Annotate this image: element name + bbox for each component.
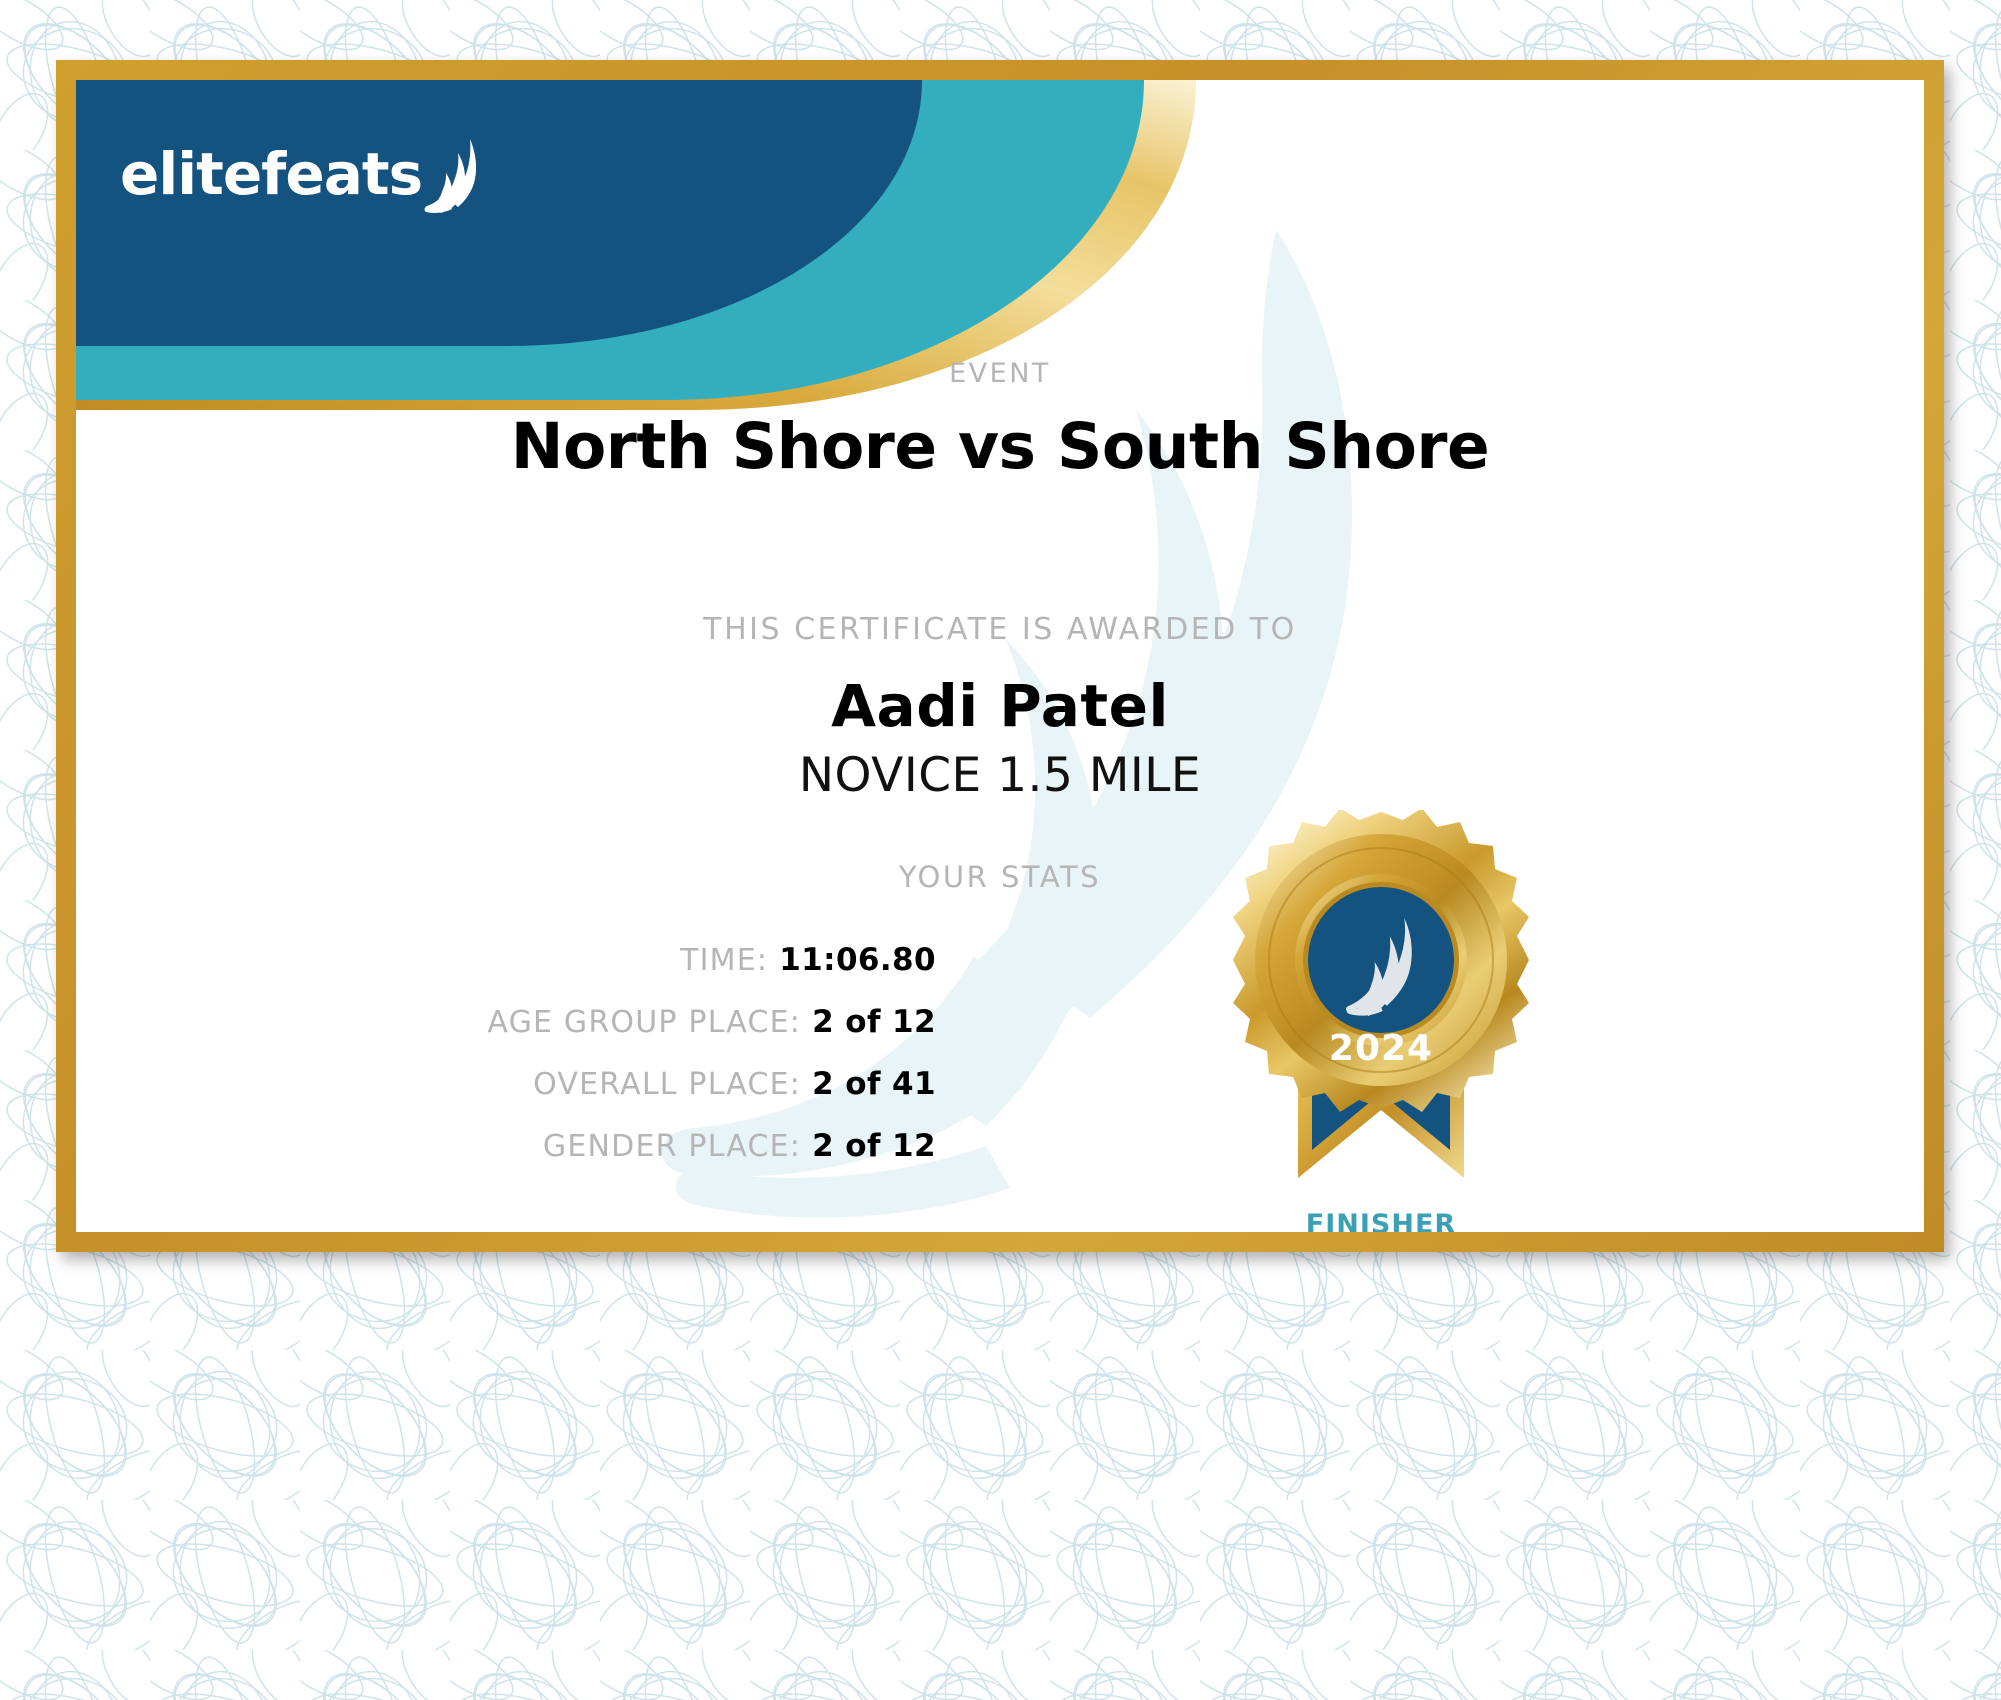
seal-caption-line1: FINISHER	[1216, 1209, 1546, 1232]
gold-frame-border: elitefeats EVENT North Shore vs South Sh…	[56, 60, 1944, 1252]
stat-value: 2 of 41	[812, 1066, 936, 1102]
winged-foot-icon	[424, 137, 486, 213]
stat-value: 2 of 12	[812, 1004, 936, 1040]
stat-value: 2 of 12	[812, 1128, 936, 1164]
division-name: NOVICE 1.5 MILE	[76, 748, 1924, 803]
stat-row-age-group-place: AGE GROUP PLACE: 2 of 12	[76, 1004, 936, 1040]
event-name: North Shore vs South Shore	[76, 410, 1924, 483]
certificate-content: EVENT North Shore vs South Shore THIS CE…	[76, 80, 1924, 1232]
gold-medal-ribbon-icon: 2024	[1216, 810, 1546, 1200]
stat-row-gender-place: GENDER PLACE: 2 of 12	[76, 1128, 936, 1164]
stat-row-overall-place: OVERALL PLACE: 2 of 41	[76, 1066, 936, 1102]
stat-value: 11:06.80	[779, 942, 936, 978]
seal-year: 2024	[1329, 1028, 1433, 1069]
certificate-page: elitefeats EVENT North Shore vs South Sh…	[0, 0, 2001, 1700]
stat-label: TIME:	[680, 943, 768, 978]
event-label: EVENT	[76, 358, 1924, 389]
stat-row-time: TIME: 11:06.80	[76, 942, 936, 978]
stat-label: OVERALL PLACE:	[533, 1067, 801, 1102]
brand-wordmark: elitefeats	[120, 145, 422, 203]
recipient-name: Aadi Patel	[76, 672, 1924, 740]
seal-caption: FINISHER CERTIFICATE	[1216, 1209, 1546, 1232]
certificate-paper: elitefeats EVENT North Shore vs South Sh…	[76, 80, 1924, 1232]
awarded-to-label: THIS CERTIFICATE IS AWARDED TO	[76, 612, 1924, 647]
stat-label: GENDER PLACE:	[543, 1129, 801, 1164]
stat-label: AGE GROUP PLACE:	[487, 1005, 801, 1040]
your-stats-label: YOUR STATS	[76, 860, 1924, 894]
stats-list: TIME: 11:06.80 AGE GROUP PLACE: 2 of 12 …	[76, 942, 936, 1190]
finisher-seal: 2024 FINISHER CERTIFICATE	[1216, 810, 1546, 1232]
brand-logo: elitefeats	[120, 135, 486, 213]
